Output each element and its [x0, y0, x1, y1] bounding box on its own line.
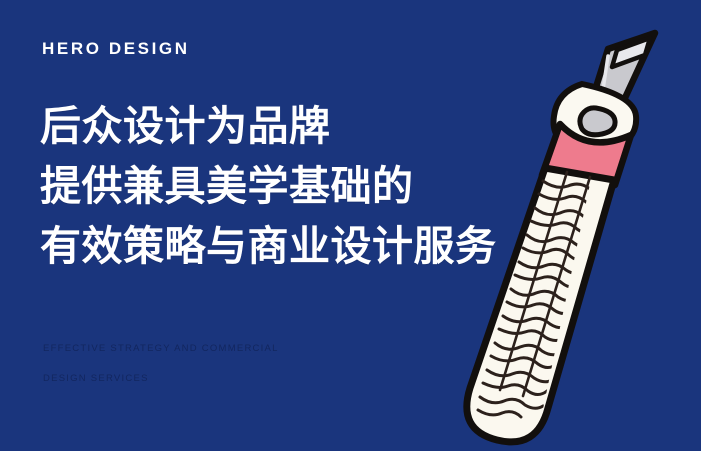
poster-canvas: HERO DESIGN 后众设计为品牌 提供兼具美学基础的 有效策略与商业设计服…	[0, 0, 701, 451]
subcopy-line-1: EFFECTIVE STRATEGY AND COMMERCIAL	[43, 334, 363, 364]
knife-blade-icon	[586, 33, 655, 126]
headline-line-2: 提供兼具美学基础的	[40, 156, 560, 216]
headline-block: 后众设计为品牌 提供兼具美学基础的 有效策略与商业设计服务	[40, 96, 560, 276]
brand-eyebrow: HERO DESIGN	[42, 40, 190, 57]
headline-line-1: 后众设计为品牌	[40, 96, 560, 156]
headline-line-3: 有效策略与商业设计服务	[40, 216, 560, 276]
knife-ferrule	[554, 84, 637, 150]
subcopy-line-2: DESIGN SERVICES	[43, 364, 363, 394]
subcopy-block: EFFECTIVE STRATEGY AND COMMERCIAL DESIGN…	[43, 334, 363, 394]
